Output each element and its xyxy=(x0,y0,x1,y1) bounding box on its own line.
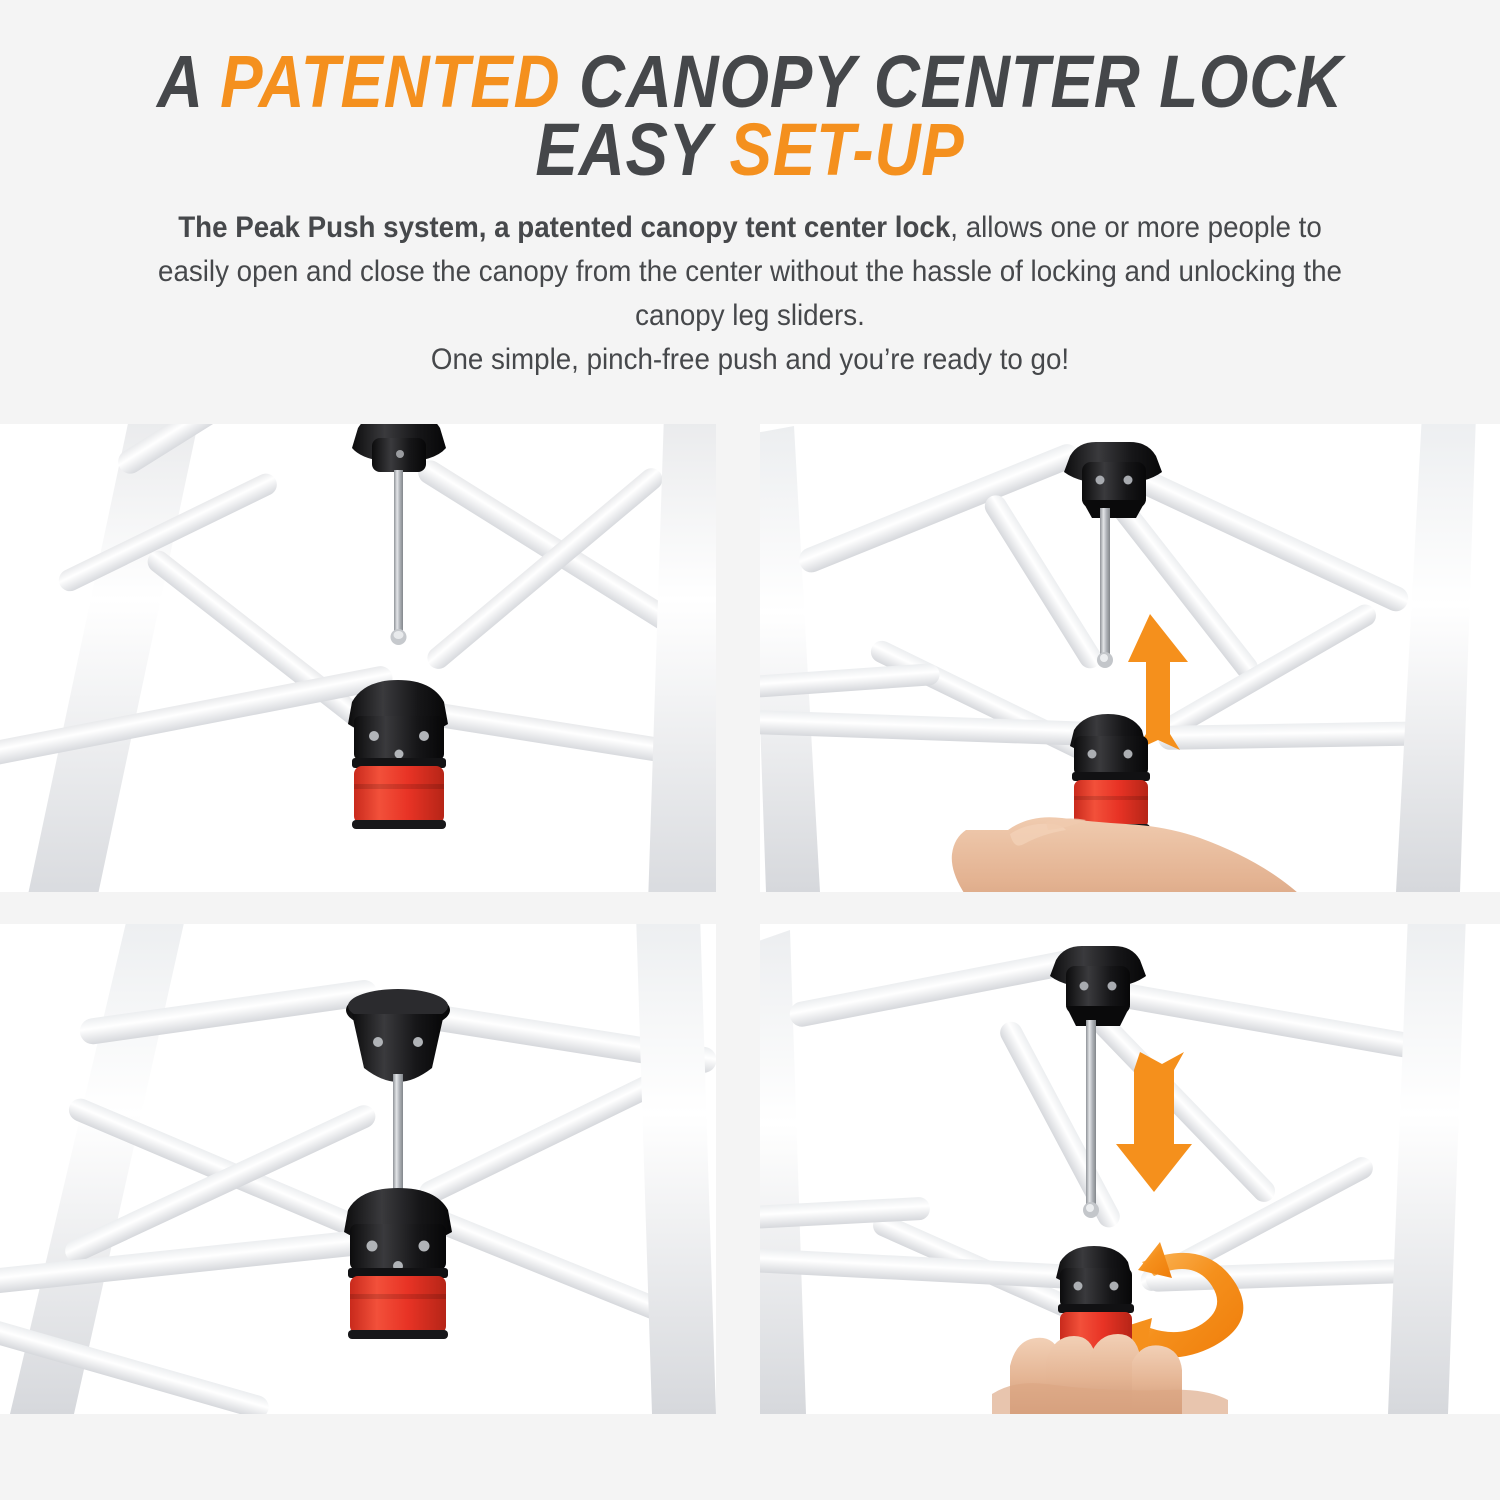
canopy-frame-illustration-3 xyxy=(0,924,716,1414)
page-title: A PATENTED CANOPY CENTER LOCK EASY SET-U… xyxy=(0,48,1500,184)
title-line2-highlight: SET-UP xyxy=(730,108,965,191)
panel-hands-twisting-hub-to-release xyxy=(760,924,1500,1414)
title-line1-highlight: PATENTED xyxy=(220,40,560,123)
canopy-frame-illustration-4 xyxy=(760,924,1500,1414)
title-line2-part1: EASY xyxy=(535,108,729,191)
red-center-lock-hub xyxy=(344,1188,452,1339)
panel-canopy-frame-unlocked-lowered xyxy=(0,424,716,892)
photo-grid xyxy=(0,424,1500,1444)
canopy-frame-illustration-2 xyxy=(760,424,1500,892)
red-center-lock-hub xyxy=(1070,714,1150,832)
description-paragraph: The Peak Push system, a patented canopy … xyxy=(148,206,1351,382)
description-closing: One simple, pinch-free push and you’re r… xyxy=(148,338,1351,382)
red-center-lock-hub xyxy=(348,680,448,829)
canopy-frame-illustration-1 xyxy=(0,424,716,892)
title-line-2: EASY SET-UP xyxy=(105,116,1395,184)
chrome-push-rod xyxy=(393,1074,403,1204)
infographic-page: A PATENTED CANOPY CENTER LOCK EASY SET-U… xyxy=(0,0,1500,1500)
panel-canopy-frame-locked-raised xyxy=(0,924,716,1414)
title-line-1: A PATENTED CANOPY CENTER LOCK xyxy=(105,48,1395,116)
title-line1-part1: A xyxy=(157,40,220,123)
panel-hand-pushing-hub-upward xyxy=(760,424,1500,892)
description-bold-lead: The Peak Push system, a patented canopy … xyxy=(178,211,950,244)
